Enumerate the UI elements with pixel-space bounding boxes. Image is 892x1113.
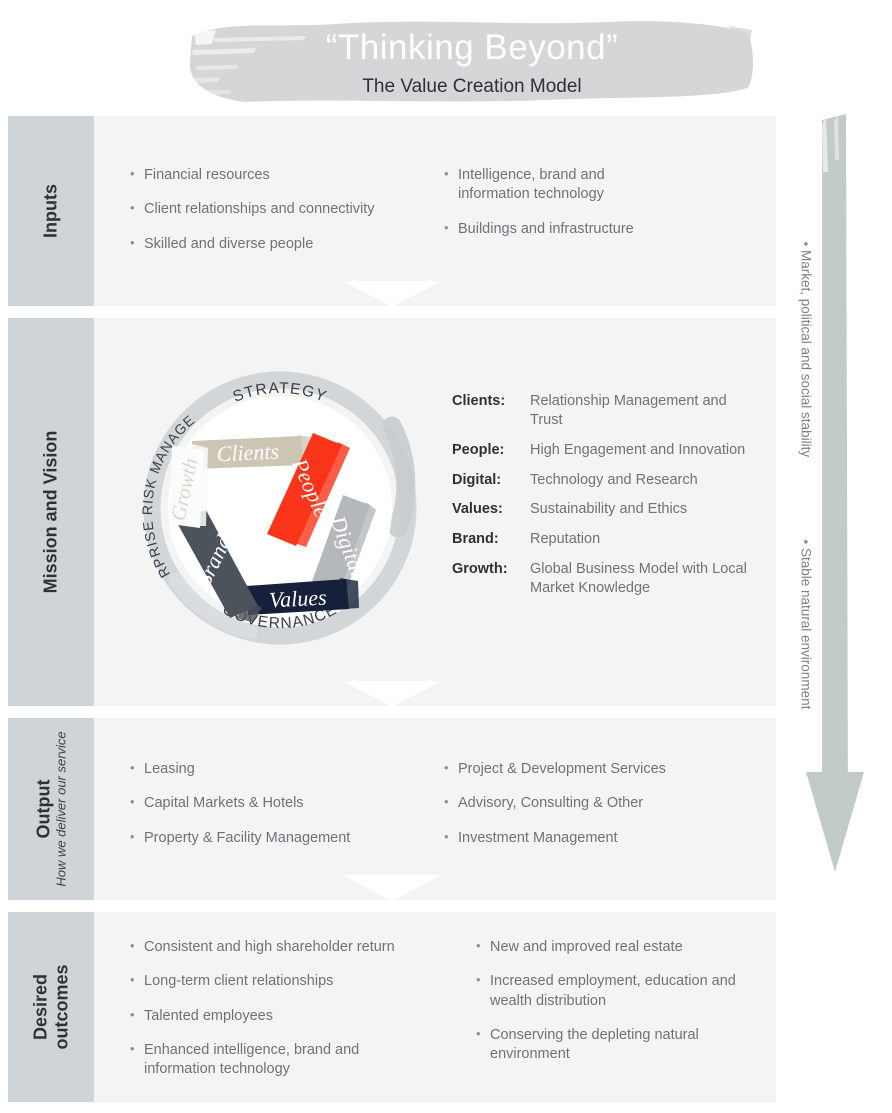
legend-value: High Engagement and Innovation: [530, 441, 745, 460]
list-item: Capital Markets & Hotels: [130, 794, 430, 813]
legend-key: People:: [452, 441, 530, 460]
chevron-notch-icon: [342, 681, 442, 707]
wheel-segment-label-values: Values: [268, 585, 327, 613]
list-item: New and improved real estate: [476, 938, 776, 957]
output-list-left: Leasing Capital Markets & Hotels Propert…: [130, 760, 430, 863]
legend-row-growth: Growth: Global Business Model with Local…: [452, 560, 752, 598]
list-item: Advisory, Consulting & Other: [444, 794, 734, 813]
external-environment-bullet-1: Market, political and social stability: [799, 242, 814, 458]
legend-value: Sustainability and Ethics: [530, 500, 687, 519]
list-item: Increased employment, education and weal…: [476, 972, 776, 1011]
wheel-svg: STRATEGY ENTERPRISE RISK MANAGEMENT GOVE…: [130, 338, 430, 672]
legend-row-digital: Digital: Technology and Research: [452, 471, 752, 490]
legend-row-brand: Brand: Reputation: [452, 530, 752, 549]
page-subtitle: The Value Creation Model: [186, 76, 758, 98]
list-item: Enhanced intelligence, brand and informa…: [130, 1041, 430, 1080]
list-item: Client relationships and connectivity: [130, 200, 430, 219]
section-inputs: Inputs Financial resources Client relati…: [8, 116, 776, 306]
legend-value: Technology and Research: [530, 471, 698, 490]
page-header: “Thinking Beyond” The Value Creation Mod…: [186, 14, 758, 106]
value-creation-wheel: STRATEGY ENTERPRISE RISK MANAGEMENT GOVE…: [130, 338, 430, 672]
list-item: Financial resources: [130, 166, 430, 185]
section-label-output: Output How we deliver our service: [8, 718, 94, 900]
outcomes-list-left: Consistent and high shareholder return L…: [130, 938, 430, 1094]
legend-value: Global Business Model with Local Market …: [530, 560, 752, 598]
legend-key: Values:: [452, 500, 530, 519]
external-environment-bullet-2: Stable natural environment: [799, 540, 814, 710]
legend-key: Clients:: [452, 392, 530, 430]
section-label-text: Output: [33, 780, 53, 839]
section-label-inputs: Inputs: [8, 116, 94, 306]
outcomes-list-right: New and improved real estate Increased e…: [476, 938, 776, 1079]
section-label-text: Mission and Vision: [41, 431, 61, 594]
list-item: Skilled and diverse people: [130, 235, 430, 254]
section-sublabel-text: How we deliver our service: [54, 731, 69, 886]
legend-row-people: People: High Engagement and Innovation: [452, 441, 752, 460]
section-desired-outcomes: Desired outcomes Consistent and high sha…: [8, 912, 776, 1102]
list-item: Project & Development Services: [444, 760, 734, 779]
down-arrow-icon: [792, 112, 892, 912]
list-item: Investment Management: [444, 829, 734, 848]
legend-row-values: Values: Sustainability and Ethics: [452, 500, 752, 519]
section-label-text: Inputs: [41, 184, 61, 238]
list-item: Conserving the depleting natural environ…: [476, 1026, 776, 1065]
legend-row-clients: Clients: Relationship Management and Tru…: [452, 392, 752, 430]
section-output: Output How we deliver our service Leasin…: [8, 718, 776, 900]
section-label-text: Desired outcomes: [30, 964, 71, 1049]
legend-value: Reputation: [530, 530, 600, 549]
list-item: Intelligence, brand and information tech…: [444, 166, 664, 205]
section-label-mission-and-vision: Mission and Vision: [8, 318, 94, 706]
list-item: Consistent and high shareholder return: [130, 938, 430, 957]
legend-key: Brand:: [452, 530, 530, 549]
section-label-desired-outcomes: Desired outcomes: [8, 912, 94, 1102]
inputs-list-left: Financial resources Client relationships…: [130, 166, 430, 269]
list-item: Buildings and infrastructure: [444, 220, 664, 239]
external-environment-arrow: External environment Market, political a…: [792, 112, 892, 912]
legend-key: Growth:: [452, 560, 530, 598]
inputs-list-right: Intelligence, brand and information tech…: [444, 166, 664, 254]
list-item: Property & Facility Management: [130, 829, 430, 848]
legend-value: Relationship Management and Trust: [530, 392, 752, 430]
wheel-segment-label-clients: Clients: [216, 439, 279, 467]
legend-key: Digital:: [452, 471, 530, 490]
list-item: Talented employees: [130, 1007, 430, 1026]
list-item: Leasing: [130, 760, 430, 779]
list-item: Long-term client relationships: [130, 972, 430, 991]
output-list-right: Project & Development Services Advisory,…: [444, 760, 734, 863]
wheel-legend: Clients: Relationship Management and Tru…: [452, 392, 752, 609]
wheel-segment-growth: Growth: [166, 444, 208, 528]
page-title: “Thinking Beyond”: [186, 30, 758, 65]
